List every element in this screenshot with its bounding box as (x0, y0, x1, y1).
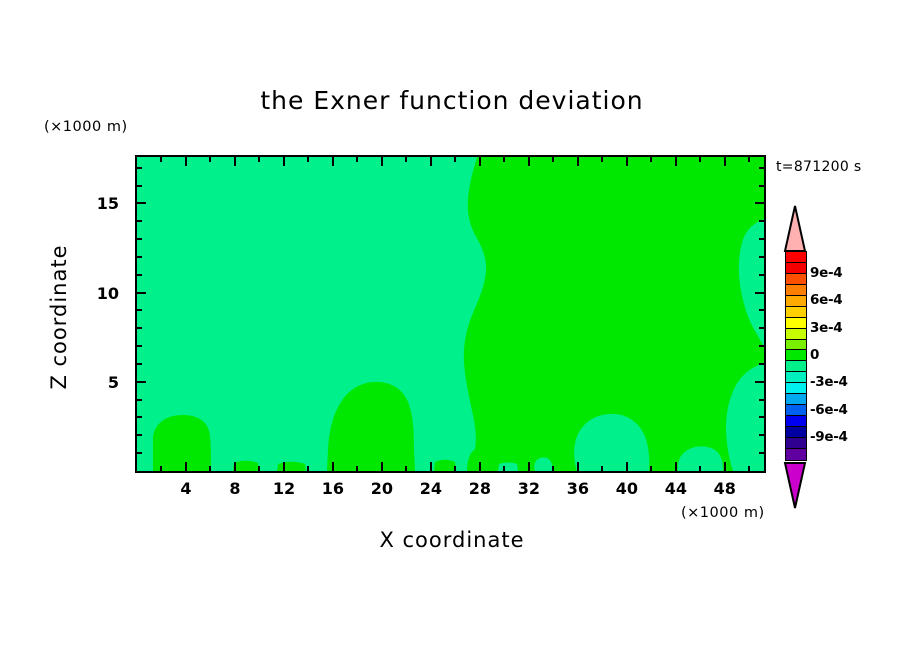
axis-tick (137, 202, 146, 204)
axis-tick (724, 157, 726, 166)
colorbar (783, 205, 807, 505)
colorbar-band-3 (786, 285, 806, 296)
y-axis-label: Z coordinate (47, 222, 71, 412)
colorbar-band-18 (786, 449, 806, 460)
colorbar-band-10 (786, 361, 806, 372)
x-tick-label-24: 24 (411, 479, 451, 498)
axis-tick (759, 167, 764, 169)
x-tick-label-40: 40 (607, 479, 647, 498)
colorbar-label-0: 9e-4 (810, 265, 842, 281)
x-tick-label-8: 8 (215, 479, 255, 498)
axis-tick (755, 292, 764, 294)
y-axis-unit-label: (×1000 m) (44, 119, 128, 135)
axis-tick (137, 327, 142, 329)
colorbar-over-arrow (783, 205, 807, 251)
x-tick-label-20: 20 (362, 479, 402, 498)
axis-tick (405, 466, 407, 471)
axis-tick (137, 274, 142, 276)
x-axis-unit-label: (×1000 m) (681, 505, 765, 521)
axis-tick (552, 157, 554, 162)
axis-tick (626, 157, 628, 166)
axis-tick (675, 462, 677, 471)
colorbar-band-12 (786, 383, 806, 394)
colorbar-band-9 (786, 350, 806, 361)
axis-tick (137, 292, 146, 294)
axis-tick (724, 462, 726, 471)
axis-tick (552, 466, 554, 471)
axis-tick (503, 466, 505, 471)
axis-tick (601, 466, 603, 471)
axis-tick (137, 399, 142, 401)
axis-tick (209, 466, 211, 471)
colorbar-bands (785, 251, 807, 461)
axis-tick (759, 399, 764, 401)
x-tick-label-28: 28 (460, 479, 500, 498)
axis-tick (675, 157, 677, 166)
axis-tick (283, 462, 285, 471)
x-tick-label-36: 36 (558, 479, 598, 498)
axis-tick (759, 434, 764, 436)
axis-tick (577, 157, 579, 166)
axis-tick (332, 157, 334, 166)
x-axis-label: X coordinate (0, 528, 904, 552)
contour-field (137, 157, 764, 471)
axis-tick (759, 238, 764, 240)
axis-tick (137, 167, 142, 169)
colorbar-band-13 (786, 394, 806, 405)
colorbar-label-2: 3e-4 (810, 320, 842, 336)
axis-tick (759, 345, 764, 347)
x-tick-label-32: 32 (509, 479, 549, 498)
axis-tick (699, 466, 701, 471)
y-tick-label-10: 10 (85, 284, 119, 303)
colorbar-band-0 (786, 252, 806, 263)
colorbar-band-8 (786, 340, 806, 351)
axis-tick (137, 345, 142, 347)
axis-tick (759, 327, 764, 329)
axis-tick (307, 466, 309, 471)
colorbar-band-4 (786, 296, 806, 307)
axis-tick (137, 363, 142, 365)
axis-tick (755, 202, 764, 204)
x-tick-label-48: 48 (705, 479, 745, 498)
y-tick-label-15: 15 (85, 194, 119, 213)
colorbar-band-11 (786, 372, 806, 383)
axis-tick (650, 466, 652, 471)
axis-tick (137, 309, 142, 311)
axis-tick (430, 462, 432, 471)
colorbar-band-7 (786, 329, 806, 340)
axis-tick (699, 157, 701, 162)
colorbar-band-16 (786, 427, 806, 438)
colorbar-label-5: -6e-4 (810, 402, 848, 418)
axis-tick (479, 157, 481, 166)
axis-tick (258, 466, 260, 471)
axis-tick (137, 220, 142, 222)
axis-tick (160, 466, 162, 471)
axis-tick (626, 462, 628, 471)
colorbar-under-arrow (783, 462, 807, 510)
axis-tick (137, 185, 142, 187)
y-tick-label-5: 5 (85, 373, 119, 392)
axis-tick (137, 256, 142, 258)
axis-tick (454, 466, 456, 471)
axis-tick (283, 157, 285, 166)
axis-tick (454, 157, 456, 162)
colorbar-label-3: 0 (810, 347, 819, 363)
axis-tick (759, 452, 764, 454)
colorbar-band-15 (786, 416, 806, 427)
axis-tick (185, 462, 187, 471)
colorbar-band-17 (786, 438, 806, 449)
axis-tick (356, 157, 358, 162)
axis-tick (759, 185, 764, 187)
axis-tick (137, 238, 142, 240)
axis-tick (185, 157, 187, 166)
axis-tick (160, 157, 162, 162)
axis-tick (759, 274, 764, 276)
colorbar-band-6 (786, 318, 806, 329)
colorbar-label-4: -3e-4 (810, 374, 848, 390)
page-title: the Exner function deviation (0, 86, 904, 115)
axis-tick (307, 157, 309, 162)
axis-tick (137, 434, 142, 436)
axis-tick (759, 256, 764, 258)
axis-tick (137, 452, 142, 454)
colorbar-band-1 (786, 263, 806, 274)
axis-tick (405, 157, 407, 162)
axis-tick (748, 466, 750, 471)
x-tick-label-16: 16 (313, 479, 353, 498)
contour-plot-area (135, 155, 766, 473)
axis-tick (381, 462, 383, 471)
colorbar-band-2 (786, 274, 806, 285)
axis-tick (759, 309, 764, 311)
axis-tick (234, 462, 236, 471)
x-tick-label-4: 4 (166, 479, 206, 498)
axis-tick (258, 157, 260, 162)
axis-tick (577, 462, 579, 471)
axis-tick (503, 157, 505, 162)
axis-tick (234, 157, 236, 166)
axis-tick (381, 157, 383, 166)
colorbar-band-5 (786, 307, 806, 318)
x-tick-label-44: 44 (656, 479, 696, 498)
axis-tick (332, 462, 334, 471)
axis-tick (759, 220, 764, 222)
axis-tick (748, 157, 750, 162)
colorbar-label-1: 6e-4 (810, 292, 842, 308)
timestamp-annotation: t=871200 s (776, 159, 861, 175)
axis-tick (650, 157, 652, 162)
axis-tick (755, 381, 764, 383)
axis-tick (601, 157, 603, 162)
axis-tick (356, 466, 358, 471)
axis-tick (759, 416, 764, 418)
colorbar-band-14 (786, 405, 806, 416)
axis-tick (528, 462, 530, 471)
axis-tick (479, 462, 481, 471)
colorbar-label-6: -9e-4 (810, 429, 848, 445)
axis-tick (430, 157, 432, 166)
axis-tick (759, 363, 764, 365)
axis-tick (528, 157, 530, 166)
axis-tick (137, 416, 142, 418)
x-tick-label-12: 12 (264, 479, 304, 498)
axis-tick (137, 381, 146, 383)
axis-tick (209, 157, 211, 162)
